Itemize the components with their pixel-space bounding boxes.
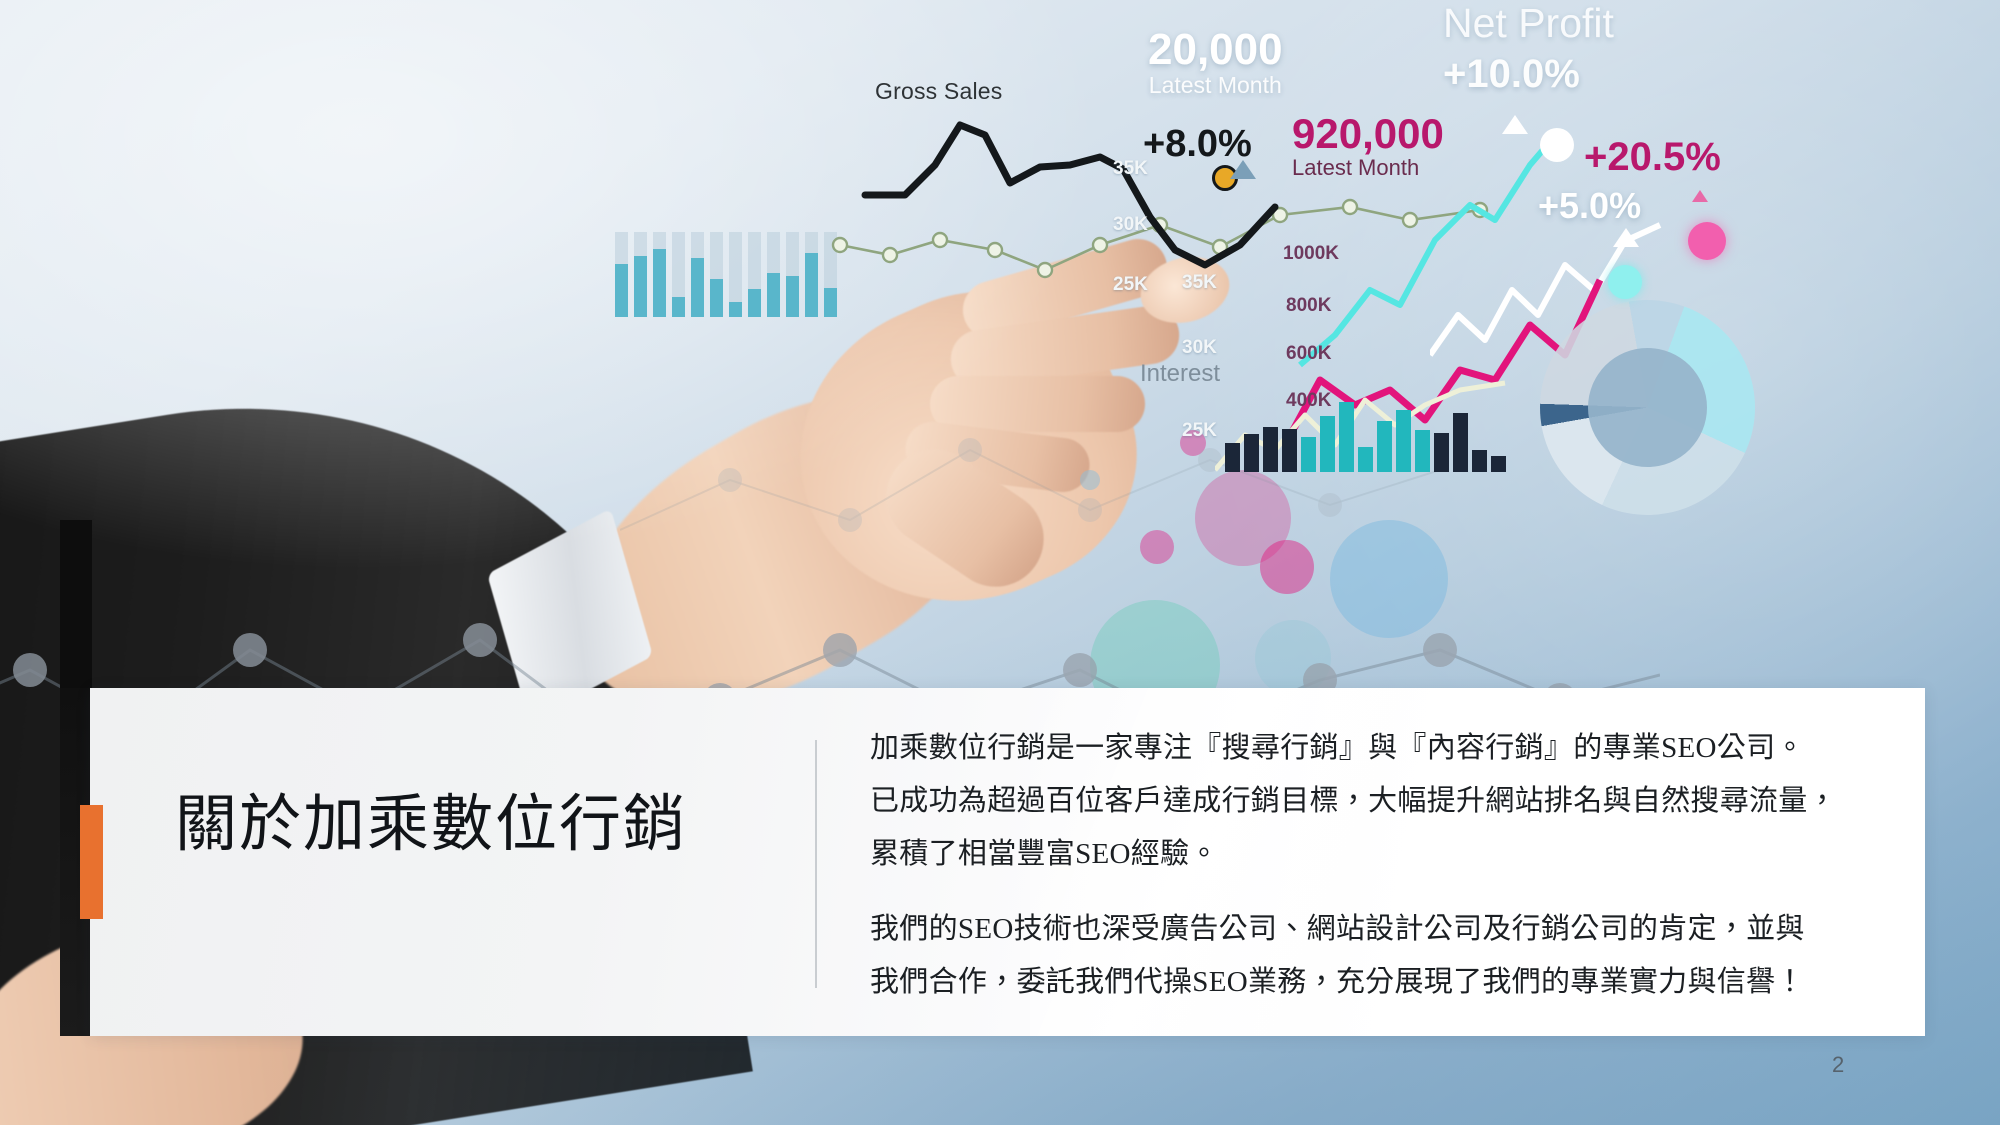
- gross-sales-label: Gross Sales: [875, 78, 1002, 105]
- kpi-gross-sales-value: 20,000 Latest Month: [1148, 28, 1283, 99]
- kpi-delta-205: +20.5%: [1584, 135, 1721, 180]
- interest-label: Interest: [1140, 360, 1220, 388]
- trend-up-triangle: [1613, 228, 1639, 247]
- data-point-marker: [1540, 128, 1574, 162]
- title-accent-bar: [80, 805, 103, 919]
- bar-chart-revenue-mix: [1225, 400, 1500, 472]
- axis-tick-35k-left: 35K: [1113, 158, 1148, 180]
- kpi-net-profit-value: 920,000 Latest Month: [1292, 113, 1444, 181]
- axis-tick-600k: 600K: [1286, 343, 1331, 365]
- trend-up-triangle: [1502, 115, 1528, 134]
- axis-tick-400k: 400K: [1286, 390, 1331, 412]
- body-text-column: 加乘數位行銷是一家專注『搜尋行銷』與『內容行銷』的專業SEO公司。 已成功為超過…: [870, 725, 1890, 1012]
- trend-up-triangle-small: [1692, 190, 1708, 202]
- data-point-marker: [1608, 265, 1642, 299]
- axis-tick-30k-left: 30K: [1113, 214, 1148, 236]
- left-black-strip-top: [60, 520, 92, 690]
- vertical-divider: [815, 740, 817, 988]
- page-number: 2: [1832, 1052, 1844, 1078]
- kpi-subtitle: Latest Month: [1292, 155, 1444, 181]
- axis-tick-25k-left: 25K: [1113, 274, 1148, 296]
- data-point-marker: [1688, 222, 1726, 260]
- kpi-delta-50: +5.0%: [1538, 185, 1641, 227]
- paragraph-1-line-2: 已成功為超過百位客戶達成行銷目標，大幅提升網站排名與自然搜尋流量，: [870, 778, 1890, 825]
- axis-tick-25k-mid: 25K: [1182, 420, 1217, 442]
- paragraph-spacer: [870, 884, 1890, 906]
- bar-chart-gross-sales: [615, 232, 850, 317]
- axis-tick-30k-mid: 30K: [1182, 337, 1217, 359]
- paragraph-1-line-3: 累積了相當豐富SEO經驗。: [870, 831, 1890, 878]
- axis-tick-1000k: 1000K: [1283, 243, 1339, 265]
- paragraph-2-line-2: 我們合作，委託我們代操SEO業務，充分展現了我們的專業實力與信譽！: [870, 959, 1890, 1006]
- kpi-subtitle: Latest Month: [1148, 72, 1283, 99]
- net-profit-label: Net Profit: [1443, 0, 1614, 47]
- page-title: 關於加乘數位行銷: [175, 790, 795, 861]
- kpi-net-profit-delta: +10.0%: [1443, 52, 1580, 97]
- axis-tick-35k-mid: 35K: [1182, 272, 1217, 294]
- kpi-value: 20,000: [1148, 28, 1283, 72]
- kpi-gross-sales-delta: +8.0%: [1143, 123, 1252, 166]
- paragraph-1-line-1: 加乘數位行銷是一家專注『搜尋行銷』與『內容行銷』的專業SEO公司。: [870, 725, 1890, 772]
- paragraph-2-line-1: 我們的SEO技術也深受廣告公司、網站設計公司及行銷公司的肯定，並與: [870, 906, 1890, 953]
- donut-chart-hole: [1588, 348, 1707, 467]
- axis-tick-800k: 800K: [1286, 295, 1331, 317]
- kpi-value: 920,000: [1292, 113, 1444, 155]
- presentation-slide: Gross Sales Interest Net Profit 20,000 L…: [0, 0, 2000, 1125]
